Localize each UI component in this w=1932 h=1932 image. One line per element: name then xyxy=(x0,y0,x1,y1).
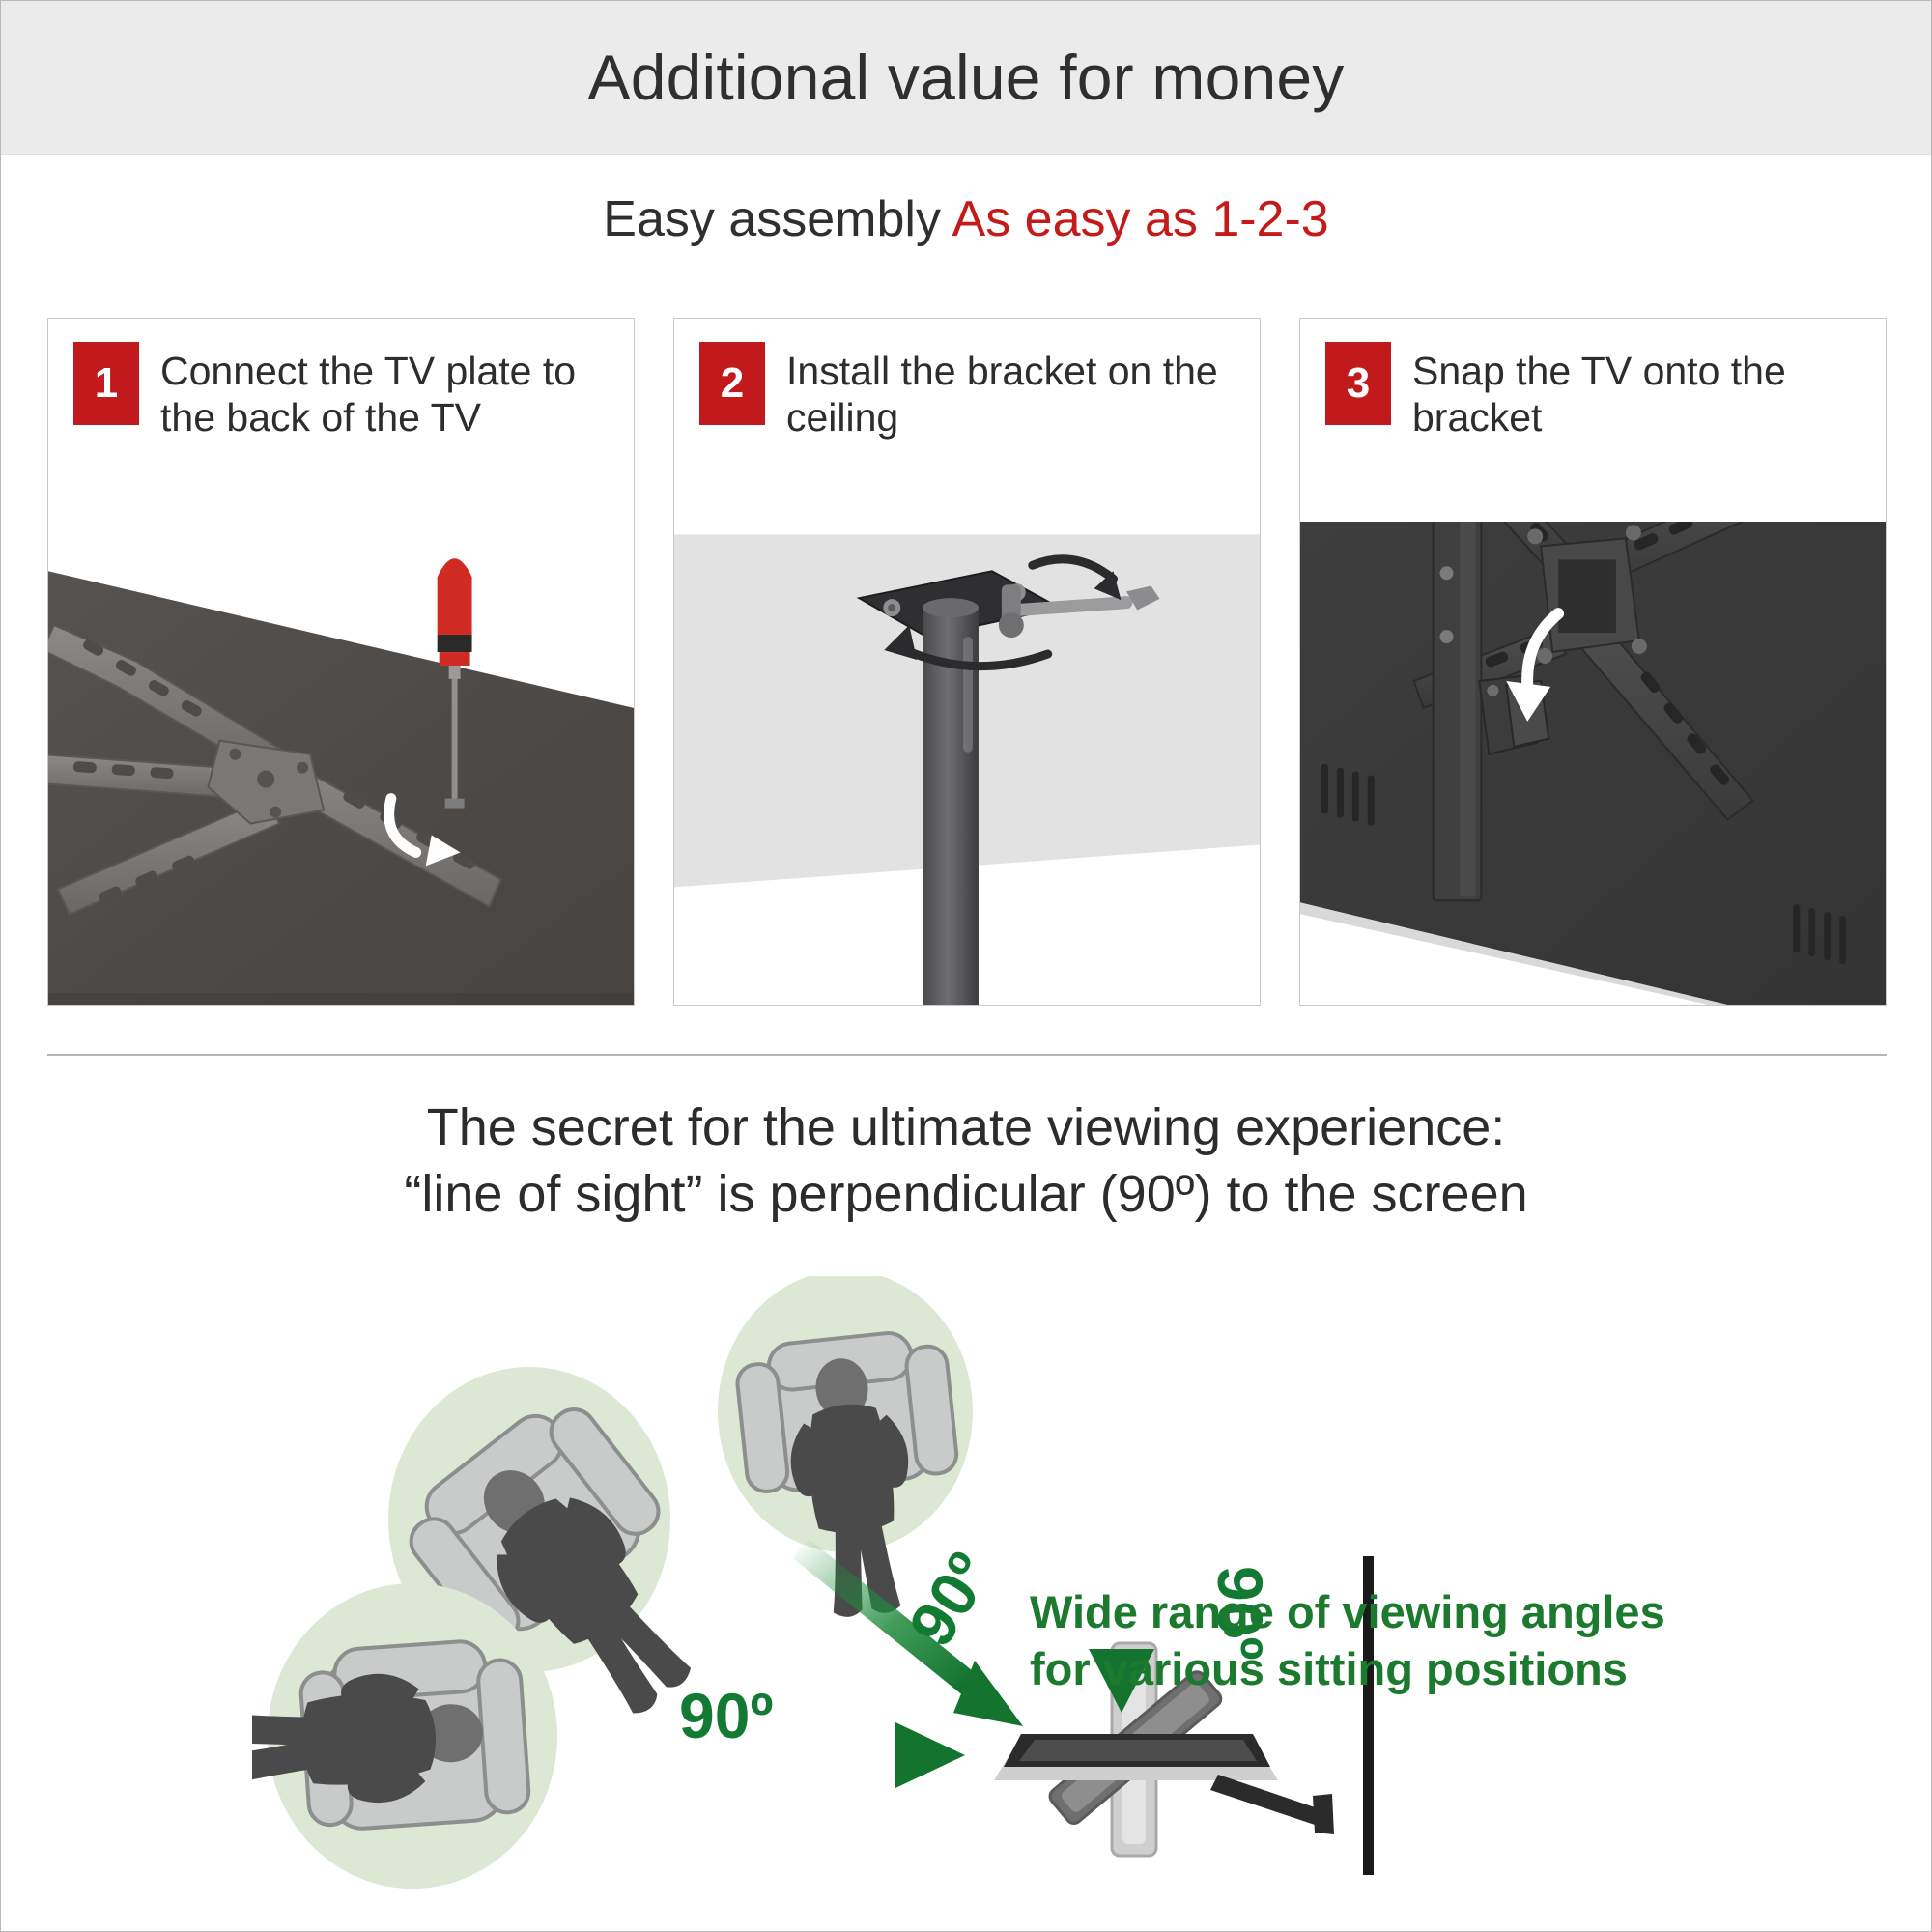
secret-line-1: The secret for the ultimate viewing expe… xyxy=(1,1094,1931,1161)
subtitle-lead: Easy assembly xyxy=(603,191,952,247)
step-2-badge: 2 xyxy=(699,342,765,425)
step-1-header: 1 Connect the TV plate to the back of th… xyxy=(48,319,634,522)
secret-headline: The secret for the ultimate viewing expe… xyxy=(1,1094,1931,1228)
page-title: Additional value for money xyxy=(588,41,1345,114)
viewing-angle-callout: Wide range of viewing angles for various… xyxy=(1030,1583,1803,1697)
subtitle-accent: As easy as 1-2-3 xyxy=(952,191,1329,247)
step-3-badge: 3 xyxy=(1325,342,1391,425)
subtitle: Easy assembly As easy as 1-2-3 xyxy=(1,190,1931,248)
steps-row: 1 Connect the TV plate to the back of th… xyxy=(47,318,1887,1006)
angle-label-horizontal: 90º xyxy=(679,1680,774,1751)
seat-icon-bottom-left xyxy=(252,1583,557,1889)
section-divider xyxy=(47,1054,1887,1056)
step-card-2: 2 Install the bracket on the ceiling xyxy=(673,318,1261,1006)
step-1-badge: 1 xyxy=(73,342,139,425)
callout-line-1: Wide range of viewing angles xyxy=(1030,1583,1803,1640)
step-card-1: 1 Connect the TV plate to the back of th… xyxy=(47,318,635,1006)
infographic-page: Additional value for money Easy assembly… xyxy=(0,0,1932,1932)
step-2-title: Install the bracket on the ceiling xyxy=(786,342,1240,441)
step-1-title: Connect the TV plate to the back of the … xyxy=(160,342,614,441)
step-3-header: 3 Snap the TV onto the bracket xyxy=(1300,319,1886,522)
step-3-title: Snap the TV onto the bracket xyxy=(1412,342,1866,441)
step-2-header: 2 Install the bracket on the ceiling xyxy=(674,319,1260,522)
step-card-3: 3 Snap the TV onto the bracket xyxy=(1299,318,1887,1006)
header-band: Additional value for money xyxy=(1,1,1931,155)
secret-line-2: “line of sight” is perpendicular (90º) t… xyxy=(1,1161,1931,1228)
callout-line-2: for various sitting positions xyxy=(1030,1640,1803,1697)
